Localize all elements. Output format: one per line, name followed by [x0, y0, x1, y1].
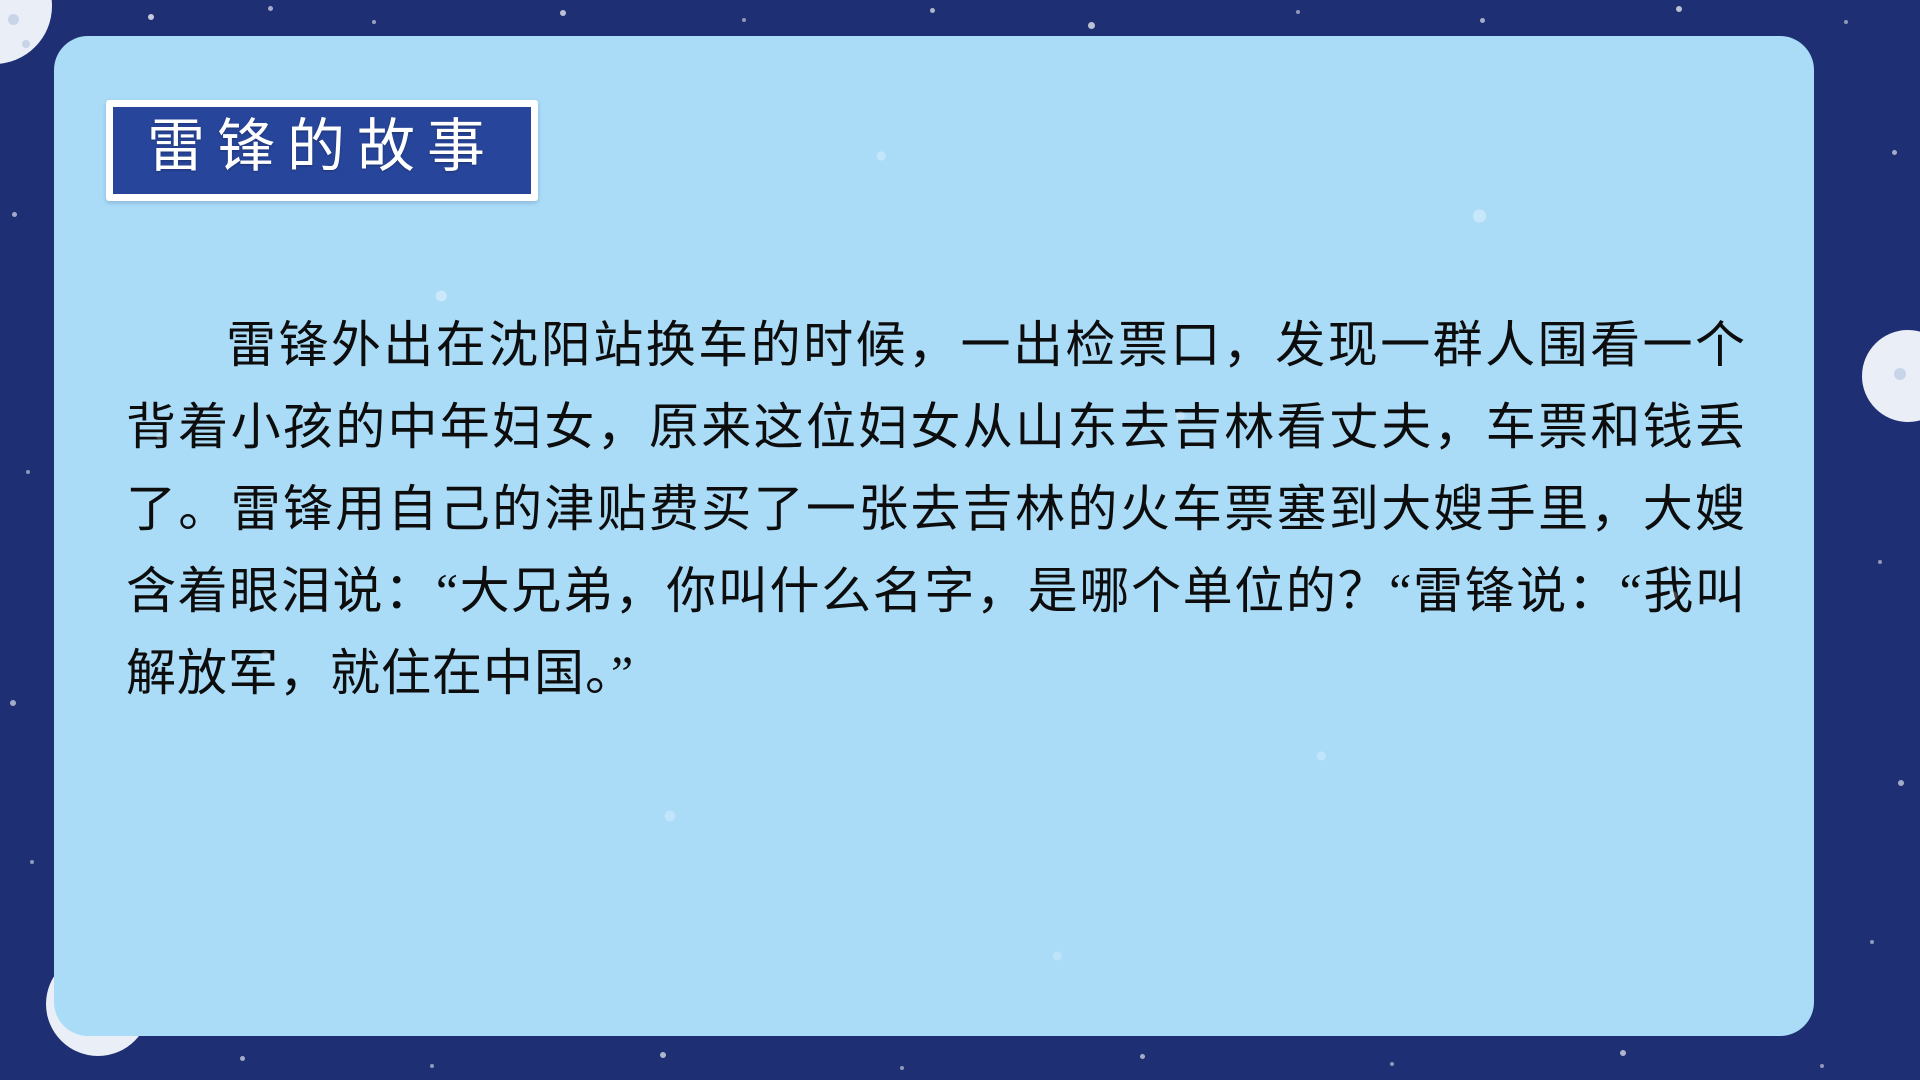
- decor-dot: [900, 1066, 904, 1070]
- slide-canvas: 雷锋的故事 雷锋外出在沈阳站换车的时候，一出检票口，发现一群人围看一个背着小孩的…: [0, 0, 1920, 1080]
- decor-dot: [560, 10, 566, 16]
- decor-blob-top-left: [0, 0, 52, 64]
- decor-blob-right: [1862, 330, 1920, 422]
- title-plate: 雷锋的故事: [106, 100, 538, 201]
- story-body: 雷锋外出在沈阳站换车的时候，一出检票口，发现一群人围看一个背着小孩的中年妇女，原…: [126, 304, 1746, 714]
- content-panel: 雷锋的故事 雷锋外出在沈阳站换车的时候，一出检票口，发现一群人围看一个背着小孩的…: [54, 36, 1814, 1036]
- decor-dot: [742, 18, 746, 22]
- story-paragraph: 雷锋外出在沈阳站换车的时候，一出检票口，发现一群人围看一个背着小孩的中年妇女，原…: [126, 304, 1746, 714]
- decor-dot: [1898, 780, 1904, 786]
- decor-dot: [1480, 18, 1485, 23]
- decor-dot: [12, 212, 17, 217]
- decor-blob-dot: [1894, 368, 1906, 380]
- decor-dot: [26, 470, 30, 474]
- decor-dot: [1844, 20, 1848, 24]
- decor-dot: [430, 1064, 434, 1068]
- decor-dot: [1088, 22, 1095, 29]
- decor-dot: [1296, 10, 1300, 14]
- decor-dot: [1878, 560, 1882, 564]
- decor-dot: [1892, 150, 1897, 155]
- decor-dot: [268, 6, 273, 11]
- decor-dot: [1620, 1050, 1626, 1056]
- decor-dot: [1676, 6, 1682, 12]
- decor-dot: [930, 8, 935, 13]
- page-title: 雷锋的故事: [147, 117, 497, 178]
- title-box: 雷锋的故事: [113, 107, 531, 194]
- decor-dot: [240, 1056, 245, 1061]
- decor-dot: [1140, 1054, 1145, 1059]
- decor-blob-dot: [22, 40, 30, 48]
- decor-dot: [372, 20, 376, 24]
- decor-dot: [1820, 1064, 1824, 1068]
- decor-dot: [660, 1052, 666, 1058]
- decor-dot: [10, 700, 16, 706]
- decor-blob-dot: [8, 14, 19, 25]
- decor-dot: [1390, 1062, 1394, 1066]
- decor-dot: [30, 860, 34, 864]
- decor-dot: [1870, 940, 1874, 944]
- decor-dot: [148, 14, 154, 20]
